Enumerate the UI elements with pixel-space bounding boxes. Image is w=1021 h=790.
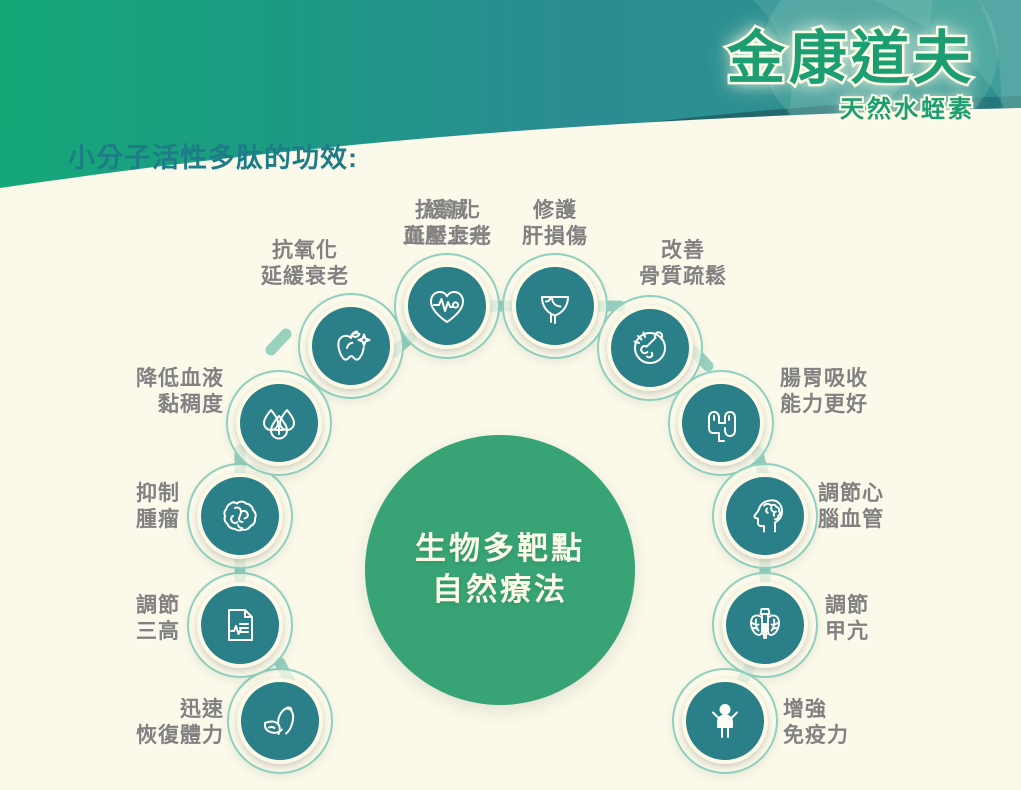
apple-sparkle-icon [326,321,376,371]
page-title: 小分子活性多肽的功效: [68,136,358,175]
label-tumor: 抑制 腫瘤 [104,481,180,532]
label-line-1: 迅速 [84,697,224,723]
heart-pulse-icon [422,281,472,331]
label-line-1: 調節心 [818,481,884,507]
brand-title: 金康道夫 [727,30,975,88]
label-osteoporosis: 改善 骨質疏鬆 [618,238,748,289]
head-brain-icon [740,491,790,541]
brand-subtitle: 天然水蛭素 [727,98,975,122]
label-line-2: 骨質疏鬆 [618,264,748,290]
node-blood-viscosity[interactable] [236,380,322,466]
label-line-1: 修護 [512,198,598,224]
intestine-icon [696,398,746,448]
node-inner-disc [722,582,808,668]
node-inner-disc [607,305,693,391]
blood-drops-icon [254,398,304,448]
label-line-1: 抑制 [104,481,180,507]
node-digestion[interactable] [678,380,764,466]
node-inner-disc [237,678,323,764]
label-line-1: 增強 [783,697,849,723]
label-line-2: 能力更好 [780,392,868,418]
person-arms-up-icon [700,696,750,746]
node-stamina[interactable] [237,678,323,764]
label-cardio-brain: 調節心 腦血管 [818,481,884,532]
label-line-1: 緩減 [394,198,500,224]
infographic-root: 金康道夫 天然水蛭素 小分子活性多肽的功效: 生物多靶點 自然療法 [0,0,1021,790]
label-line-1: 抗氧化 [247,238,363,264]
center-circle: 生物多靶點 自然療法 [365,435,635,705]
tumor-cell-icon [215,491,265,541]
label-line-2: 黏稠度 [74,392,224,418]
label-blood-viscosity: 降低血液 黏稠度 [74,366,224,417]
node-inner-disc [236,380,322,466]
node-tumor[interactable] [197,473,283,559]
node-inner-disc [682,678,768,764]
label-line-1: 調節 [104,593,180,619]
liver-icon [530,281,580,331]
label-line-1: 腸胃吸收 [780,366,868,392]
flex-arm-icon [255,696,305,746]
node-inner-disc [308,303,394,389]
label-line-2: 三高 [104,619,180,645]
label-line-2: 腦血管 [818,507,884,533]
node-inner-disc [404,263,490,349]
label-line-2: 腫瘤 [104,507,180,533]
label-antioxidant-text: 抗氧化 延緩衰老 [247,238,363,289]
label-line-1: 改善 [618,238,748,264]
label-line-1: 調節 [825,593,869,619]
label-three-highs: 調節 三高 [104,593,180,644]
brand-logo: 金康道夫 天然水蛭素 [727,30,975,122]
node-blood-pressure[interactable] [404,263,490,349]
label-blood-pressure-text: 緩減 血壓上升 [394,198,500,249]
label-line-2: 肝損傷 [512,224,598,250]
node-inner-disc [678,380,764,466]
node-inner-disc [197,582,283,668]
node-inner-disc [722,473,808,559]
label-line-1: 降低血液 [74,366,224,392]
node-thyroid[interactable] [722,582,808,668]
node-immunity[interactable] [682,678,768,764]
report-chart-icon [215,600,265,650]
center-line-1: 生物多靶點 [415,529,585,570]
bone-joint-icon [625,323,675,373]
label-digestion: 腸胃吸收 能力更好 [780,366,868,417]
node-cardio-brain[interactable] [722,473,808,559]
thyroid-icon [740,600,790,650]
node-inner-disc [512,263,598,349]
label-line-2: 免疫力 [783,723,849,749]
label-thyroid: 調節 甲亢 [825,593,869,644]
label-line-2: 延緩衰老 [247,264,363,290]
label-line-2: 恢復體力 [84,723,224,749]
node-three-highs[interactable] [197,582,283,668]
label-line-2: 血壓上升 [394,224,500,250]
label-immunity: 增強 免疫力 [783,697,849,748]
center-line-2: 自然療法 [432,570,568,611]
node-antioxidant[interactable] [308,303,394,389]
node-osteoporosis[interactable] [607,305,693,391]
label-stamina: 迅速 恢復體力 [84,697,224,748]
label-liver: 修護 肝損傷 [512,198,598,249]
label-line-2: 甲亢 [825,619,869,645]
node-inner-disc [197,473,283,559]
node-liver[interactable] [512,263,598,349]
